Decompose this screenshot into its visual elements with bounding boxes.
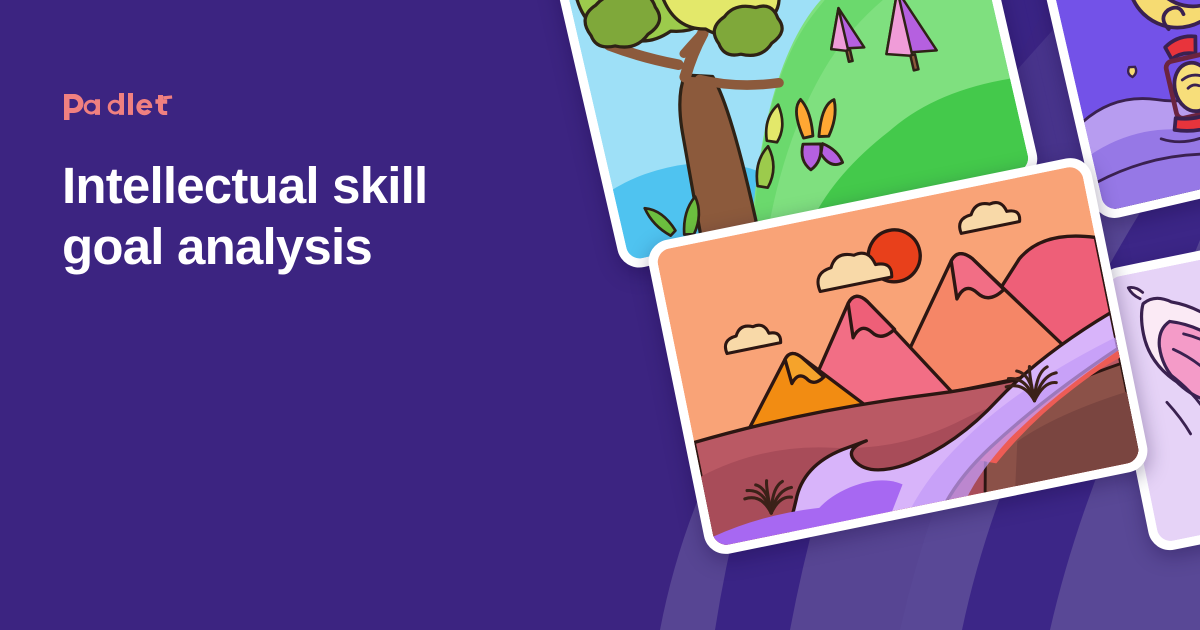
padlet-logo[interactable] bbox=[62, 92, 582, 122]
content-column: Intellectual skill goal analysis bbox=[62, 92, 582, 277]
page-title-line-1: Intellectual skill bbox=[62, 157, 427, 214]
page-title-line-2: goal analysis bbox=[62, 218, 372, 275]
share-card-canvas: Intellectual skill goal analysis bbox=[0, 0, 1200, 630]
page-title: Intellectual skill goal analysis bbox=[62, 156, 532, 277]
padlet-wordmark-logo-icon bbox=[62, 92, 174, 122]
